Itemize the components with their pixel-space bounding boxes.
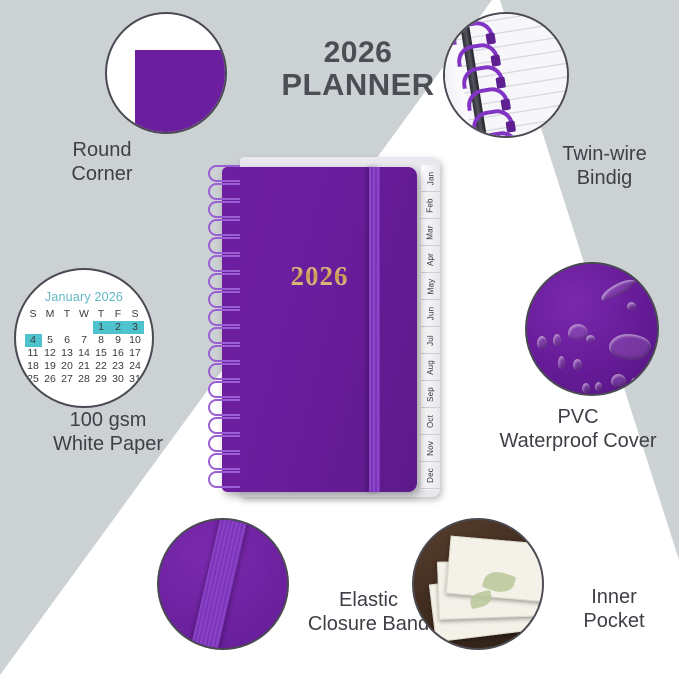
calendar-month-title: January 2026 bbox=[19, 290, 149, 304]
month-tab-label: Sep bbox=[426, 387, 435, 402]
wire-loop-icon bbox=[208, 165, 240, 182]
wire-loop-icon bbox=[208, 237, 240, 254]
caption-pvc: PVC Waterproof Cover bbox=[478, 405, 678, 454]
wire-loop-icon bbox=[208, 399, 240, 416]
month-tab-mar[interactable]: Mar bbox=[421, 219, 440, 246]
month-tab-label: Dec bbox=[426, 468, 435, 483]
calendar-week-row: 11 12 13 14 15 16 17 bbox=[25, 347, 144, 360]
month-tab-dec[interactable]: Dec bbox=[421, 462, 440, 489]
water-droplet-icon bbox=[631, 378, 637, 385]
caption-line-2: Bindig bbox=[532, 166, 677, 190]
calendar-widget: January 2026 S M T W T F S bbox=[19, 290, 149, 386]
water-droplet-icon bbox=[568, 324, 588, 340]
month-tab-label: Aug bbox=[426, 360, 435, 375]
feature-circle-twin-wire bbox=[443, 12, 569, 138]
calendar-day-highlighted[interactable]: 1 bbox=[93, 321, 110, 334]
purple-pvc-surface bbox=[527, 264, 657, 394]
month-tab-may[interactable]: May bbox=[421, 273, 440, 300]
water-droplet-icon bbox=[627, 302, 636, 310]
month-tab-label: May bbox=[426, 278, 435, 294]
wire-loop-icon bbox=[208, 219, 240, 236]
calendar-day[interactable] bbox=[59, 321, 76, 334]
twin-wire-spine bbox=[208, 163, 238, 496]
calendar-day[interactable]: 9 bbox=[110, 334, 127, 347]
caption-twin-wire: Twin-wire Bindig bbox=[532, 142, 677, 191]
feature-circle-inner-pocket bbox=[412, 518, 544, 650]
caption-line-2: Pocket bbox=[552, 609, 676, 633]
calendar-day-highlighted[interactable]: 3 bbox=[127, 321, 144, 334]
calendar-week-row: 25 26 27 28 29 30 31 bbox=[25, 373, 144, 386]
calendar-day[interactable]: 27 bbox=[59, 373, 76, 386]
page-title: 2026 PLANNER bbox=[268, 38, 448, 101]
calendar-day[interactable]: 18 bbox=[25, 360, 42, 373]
calendar-day[interactable]: 28 bbox=[76, 373, 93, 386]
calendar-day[interactable]: 21 bbox=[76, 360, 93, 373]
calendar-day-highlighted[interactable]: 4 bbox=[25, 334, 42, 347]
calendar-day[interactable]: 10 bbox=[127, 334, 144, 347]
calendar-day[interactable]: 22 bbox=[93, 360, 110, 373]
calendar-week-row: 18 19 20 21 22 23 24 bbox=[25, 360, 144, 373]
month-tab-sep[interactable]: Sep bbox=[421, 381, 440, 408]
calendar-day[interactable]: 16 bbox=[110, 347, 127, 360]
calendar-day[interactable]: 29 bbox=[93, 373, 110, 386]
month-tab-jun[interactable]: Jun bbox=[421, 300, 440, 327]
calendar-day[interactable]: 19 bbox=[42, 360, 59, 373]
weekday-header: W bbox=[76, 308, 93, 321]
wire-loop-icon bbox=[208, 201, 240, 218]
cover-elastic-band bbox=[369, 167, 380, 492]
caption-line-2: White Paper bbox=[28, 432, 188, 456]
weekday-header: T bbox=[59, 308, 76, 321]
caption-line-2: Corner bbox=[32, 162, 172, 186]
caption-line-1: Inner bbox=[552, 585, 676, 609]
wire-loop-icon bbox=[208, 363, 240, 380]
water-droplet-icon bbox=[611, 374, 626, 387]
month-tab-aug[interactable]: Aug bbox=[421, 354, 440, 381]
caption-line-1: 100 gsm bbox=[28, 408, 188, 432]
month-tab-label: Jul bbox=[426, 335, 435, 346]
calendar-day[interactable]: 26 bbox=[42, 373, 59, 386]
weekday-header: S bbox=[25, 308, 42, 321]
wire-loop-icon bbox=[208, 435, 240, 452]
wire-loop-icon bbox=[208, 381, 240, 398]
calendar-day[interactable]: 12 bbox=[42, 347, 59, 360]
calendar-day[interactable] bbox=[42, 321, 59, 334]
calendar-day[interactable]: 5 bbox=[42, 334, 59, 347]
wire-loop-icon bbox=[208, 291, 240, 308]
wire-loop-icon bbox=[208, 453, 240, 470]
month-tab-label: Apr bbox=[426, 252, 435, 265]
calendar-day[interactable] bbox=[25, 321, 42, 334]
month-tab-label: Mar bbox=[426, 225, 435, 239]
wire-loop-icon bbox=[208, 417, 240, 434]
water-droplet-icon bbox=[558, 356, 565, 369]
planner-cover: 2026 bbox=[222, 167, 417, 492]
calendar-day[interactable]: 7 bbox=[76, 334, 93, 347]
month-tab-feb[interactable]: Feb bbox=[421, 192, 440, 219]
caption-line-1: PVC bbox=[478, 405, 678, 429]
water-droplet-icon bbox=[537, 336, 547, 349]
product-infographic: 2026 PLANNER Jan Feb Mar Apr May Jun Jul… bbox=[0, 0, 679, 675]
water-droplet-icon bbox=[573, 359, 582, 370]
wire-loop-icon bbox=[208, 309, 240, 326]
water-droplet-icon bbox=[586, 335, 595, 342]
water-droplet-icon bbox=[582, 383, 590, 393]
wire-loop-icon bbox=[208, 255, 240, 272]
weekday-header: T bbox=[93, 308, 110, 321]
caption-paper: 100 gsm White Paper bbox=[28, 408, 188, 457]
calendar-week-row: 4 5 6 7 8 9 10 bbox=[25, 334, 144, 347]
pocket-card bbox=[446, 536, 544, 603]
calendar-day[interactable]: 17 bbox=[127, 347, 144, 360]
month-tab-oct[interactable]: Oct bbox=[421, 408, 440, 435]
month-tab-label: Jan bbox=[426, 171, 435, 185]
calendar-day[interactable]: 24 bbox=[127, 360, 144, 373]
title-word: PLANNER bbox=[268, 69, 448, 101]
calendar-week-row: 1 2 3 bbox=[25, 321, 144, 334]
wire-loop-icon bbox=[208, 273, 240, 290]
calendar-day[interactable]: 30 bbox=[110, 373, 127, 386]
feature-circle-paper-calendar: January 2026 S M T W T F S bbox=[14, 268, 154, 408]
water-droplet-icon bbox=[595, 382, 602, 391]
month-tab-apr[interactable]: Apr bbox=[421, 246, 440, 273]
month-tab-label: Nov bbox=[426, 441, 435, 456]
feature-circle-pvc-waterproof bbox=[525, 262, 659, 396]
month-tab-jan[interactable]: Jan bbox=[421, 165, 440, 192]
calendar-header-row: S M T W T F S bbox=[25, 308, 144, 321]
month-tab-nov[interactable]: Nov bbox=[421, 435, 440, 462]
wire-loop-icon bbox=[208, 183, 240, 200]
caption-line-1: Twin-wire bbox=[532, 142, 677, 166]
calendar-day[interactable]: 6 bbox=[59, 334, 76, 347]
wire-loop-icon bbox=[208, 345, 240, 362]
calendar-day[interactable]: 20 bbox=[59, 360, 76, 373]
month-tab-jul[interactable]: Jul bbox=[421, 327, 440, 354]
title-year: 2026 bbox=[268, 38, 448, 69]
calendar-day-highlighted[interactable]: 2 bbox=[110, 321, 127, 334]
wire-loop-icon bbox=[208, 471, 240, 488]
calendar-day[interactable]: 11 bbox=[25, 347, 42, 360]
month-tab-label: Jun bbox=[426, 306, 435, 320]
calendar-day[interactable]: 14 bbox=[76, 347, 93, 360]
weekday-header: M bbox=[42, 308, 59, 321]
water-droplet-icon bbox=[553, 334, 561, 346]
feature-circle-elastic-band bbox=[157, 518, 289, 650]
calendar-day[interactable]: 15 bbox=[93, 347, 110, 360]
round-corner-sample bbox=[135, 50, 227, 134]
feature-circle-round-corner bbox=[105, 12, 227, 134]
calendar-day[interactable] bbox=[76, 321, 93, 334]
month-tab-label: Feb bbox=[426, 198, 435, 212]
caption-round-corner: Round Corner bbox=[32, 138, 172, 187]
calendar-day[interactable]: 13 bbox=[59, 347, 76, 360]
wire-loop-icon bbox=[208, 327, 240, 344]
month-tab-label: Oct bbox=[426, 414, 435, 427]
caption-line-2: Waterproof Cover bbox=[478, 429, 678, 453]
calendar-day[interactable]: 8 bbox=[93, 334, 110, 347]
calendar-grid: S M T W T F S 1 bbox=[25, 308, 144, 386]
month-tab-strip: Jan Feb Mar Apr May Jun Jul Aug Sep Oct … bbox=[421, 165, 440, 490]
weekday-header: S bbox=[127, 308, 144, 321]
caption-line-1: Round bbox=[32, 138, 172, 162]
calendar-day[interactable]: 25 bbox=[25, 373, 42, 386]
cover-year-foil: 2026 bbox=[222, 261, 417, 292]
water-droplet-icon bbox=[609, 334, 651, 360]
planner-product: Jan Feb Mar Apr May Jun Jul Aug Sep Oct … bbox=[200, 155, 450, 500]
calendar-day[interactable]: 23 bbox=[110, 360, 127, 373]
weekday-header: F bbox=[110, 308, 127, 321]
caption-inner-pocket: Inner Pocket bbox=[552, 585, 676, 634]
calendar-day[interactable]: 31 bbox=[127, 373, 144, 386]
